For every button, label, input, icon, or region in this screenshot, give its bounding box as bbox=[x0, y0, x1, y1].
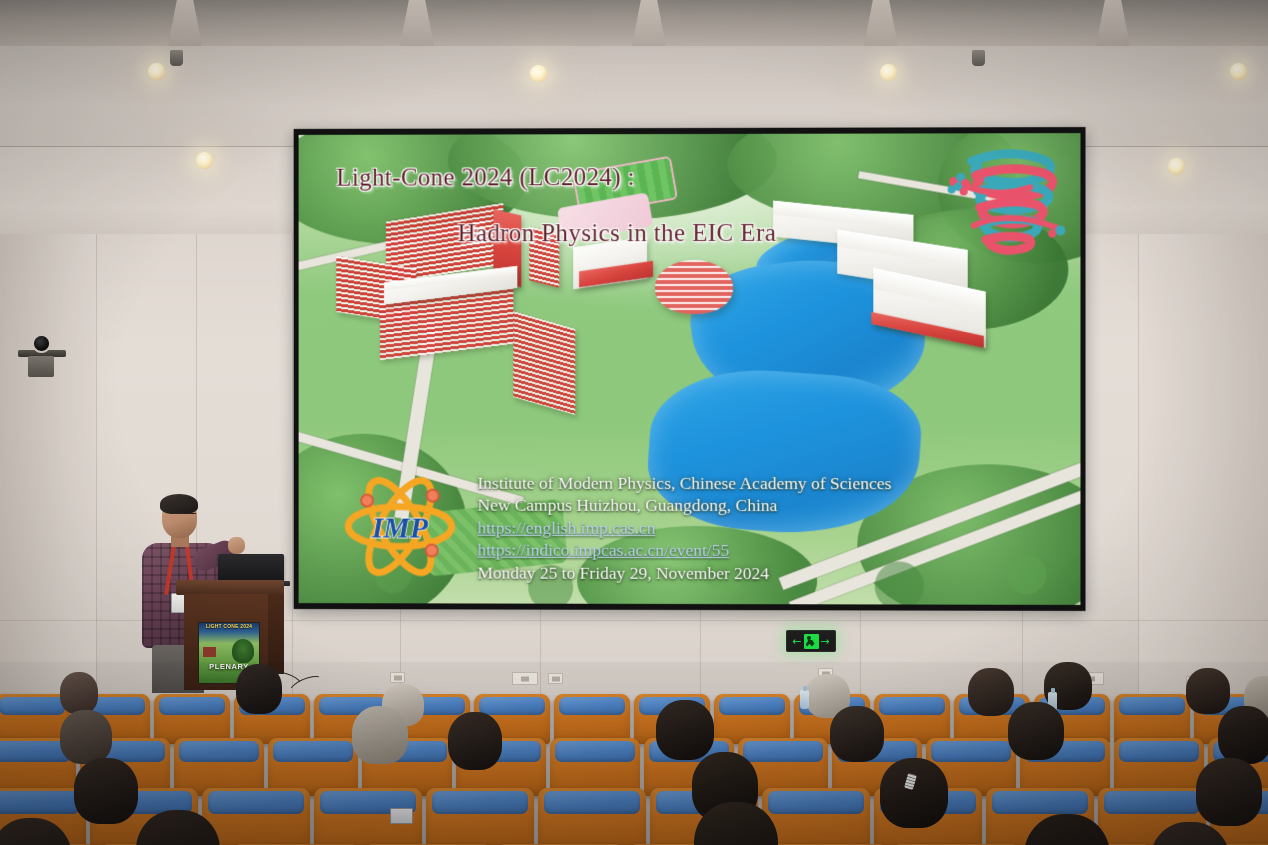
ceiling-speaker-icon bbox=[170, 50, 183, 66]
water-bottle[interactable] bbox=[800, 690, 809, 709]
audience-head bbox=[60, 710, 112, 764]
audience-head bbox=[1218, 706, 1268, 764]
conference-hall-photo: ← → bbox=[0, 0, 1268, 845]
ceiling-downlight bbox=[148, 63, 165, 80]
ceiling-downlight bbox=[1230, 63, 1247, 80]
barn-graphic bbox=[203, 647, 216, 657]
tree-graphic bbox=[232, 639, 254, 663]
slide-institute-line-1: Institute of Modern Physics, Chinese Aca… bbox=[477, 472, 891, 495]
audience-head bbox=[1186, 668, 1230, 714]
audience-head bbox=[352, 706, 408, 764]
audience-head bbox=[236, 664, 282, 714]
slide-info-block: Institute of Modern Physics, Chinese Aca… bbox=[477, 472, 891, 585]
campus-dome-arena bbox=[655, 260, 733, 314]
projection-screen: IMP Light-Cone 2024 (LC2024) : Hadron Ph… bbox=[294, 127, 1086, 611]
audience-head bbox=[1008, 702, 1064, 760]
running-man-icon bbox=[804, 634, 819, 649]
wall-panel-seam bbox=[96, 234, 97, 700]
exit-right-arrow-icon: → bbox=[821, 636, 830, 647]
emergency-exit-sign: ← → bbox=[786, 630, 836, 652]
eic-collision-spiral-icon bbox=[938, 141, 1075, 268]
ceiling-downlight bbox=[1168, 158, 1185, 175]
audience-seating bbox=[0, 662, 1268, 845]
slide-dates: Monday 25 to Friday 29, November 2024 bbox=[477, 561, 891, 584]
audience-head bbox=[880, 758, 948, 828]
svg-text:IMP: IMP bbox=[371, 511, 429, 544]
presenter-laptop[interactable] bbox=[218, 554, 284, 581]
presenter-hair bbox=[160, 494, 198, 514]
glasses-icon bbox=[170, 513, 196, 519]
presentation-slide: IMP Light-Cone 2024 (LC2024) : Hadron Ph… bbox=[299, 133, 1081, 605]
nucleus-cluster bbox=[948, 173, 971, 196]
slide-url-english[interactable]: https://english.imp.cas.cn bbox=[477, 517, 891, 540]
audience-head bbox=[656, 700, 714, 760]
slide-title-line-1: Light-Cone 2024 (LC2024) : bbox=[336, 164, 635, 193]
slide-url-indico[interactable]: https://indico.impcas.ac.cn/event/55 bbox=[477, 539, 891, 562]
presenter-hand bbox=[228, 537, 245, 554]
slide-title-line-2: Hadron Physics in the EIC Era bbox=[458, 220, 777, 248]
audience-head bbox=[830, 706, 884, 762]
audience-head bbox=[448, 712, 502, 770]
audience-head bbox=[60, 672, 98, 714]
campus-building bbox=[513, 311, 575, 415]
podium-banner-header: LIGHT CONE 2024 bbox=[199, 624, 259, 630]
ceiling-downlight bbox=[530, 65, 547, 82]
audience-head bbox=[1196, 758, 1262, 826]
imp-atom-logo-icon: IMP bbox=[340, 468, 459, 586]
audience-phone[interactable] bbox=[390, 808, 413, 824]
podium-top-surface bbox=[176, 580, 284, 595]
wall-camera-icon bbox=[14, 330, 70, 378]
audience-head bbox=[74, 758, 138, 824]
exit-left-arrow-icon: ← bbox=[792, 636, 801, 647]
ceiling-downlight bbox=[880, 64, 897, 81]
wall-corner-left bbox=[0, 234, 96, 700]
ceiling-speaker-icon bbox=[972, 50, 985, 66]
wall-panel-seam bbox=[1138, 234, 1139, 700]
wall-corner-right bbox=[1138, 234, 1268, 700]
slide-institute-line-2: New Campus Huizhou, Guangdong, China bbox=[477, 494, 891, 517]
audience-head bbox=[968, 668, 1014, 716]
ceiling-downlight bbox=[196, 152, 213, 169]
